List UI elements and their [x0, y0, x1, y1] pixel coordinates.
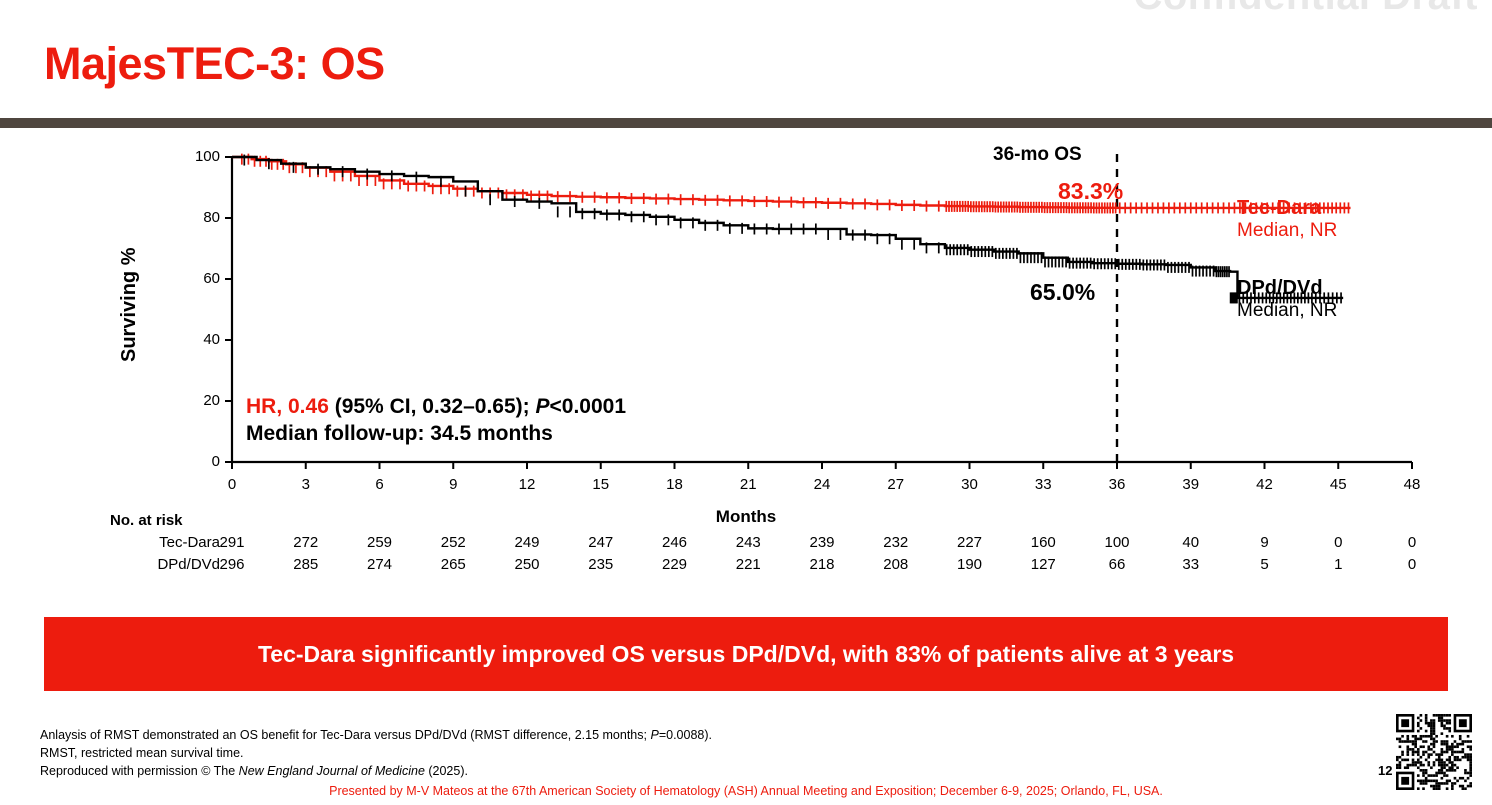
hazard-ratio-value: HR, 0.46 [246, 395, 329, 418]
risk-value: 218 [797, 556, 847, 573]
risk-table-title: No. at risk [110, 512, 183, 529]
risk-value: 66 [1092, 556, 1142, 573]
legend-dpd-dvd: DPd/DVd Median, NR [1237, 278, 1337, 321]
hazard-ratio-line: HR, 0.46 (95% CI, 0.32–0.65); P<0.0001 [246, 394, 626, 421]
risk-value: 227 [945, 534, 995, 551]
conclusion-banner: Tec-Dara significantly improved OS versu… [44, 617, 1448, 691]
risk-value: 9 [1240, 534, 1290, 551]
risk-value: 190 [945, 556, 995, 573]
footnotes: Anlaysis of RMST demonstrated an OS bene… [40, 727, 712, 780]
risk-value: 250 [502, 556, 552, 573]
risk-value: 246 [650, 534, 700, 551]
presentation-credit: Presented by M-V Mateos at the 67th Amer… [0, 784, 1492, 798]
dpd-dvd-36mo-value: 65.0% [1030, 279, 1095, 306]
risk-value: 221 [723, 556, 773, 573]
risk-value: 100 [1092, 534, 1142, 551]
risk-value: 239 [797, 534, 847, 551]
footnote-abbreviations: RMST, restricted mean survival time. [40, 745, 712, 763]
risk-value: 208 [871, 556, 921, 573]
footnote-rmst: Anlaysis of RMST demonstrated an OS bene… [40, 727, 712, 745]
footnote-p-symbol: P [650, 728, 658, 742]
risk-value: 243 [723, 534, 773, 551]
statistics-annotation: HR, 0.46 (95% CI, 0.32–0.65); P<0.0001 M… [246, 394, 626, 448]
table-row: Tec-Dara 2912722592522492472462432392322… [0, 534, 1492, 554]
risk-value: 5 [1240, 556, 1290, 573]
risk-value: 0 [1387, 534, 1437, 551]
risk-value: 0 [1313, 534, 1363, 551]
risk-value: 40 [1166, 534, 1216, 551]
legend-tec-dara-name: Tec-Dara [1237, 198, 1337, 220]
legend-dpd-dvd-median: Median, NR [1237, 300, 1337, 321]
footnote-rmst-a: Anlaysis of RMST demonstrated an OS bene… [40, 728, 650, 742]
conclusion-text: Tec-Dara significantly improved OS versu… [258, 641, 1234, 668]
risk-value: 252 [428, 534, 478, 551]
footnote-rmst-b: =0.0088). [659, 728, 712, 742]
risk-value: 291 [207, 534, 257, 551]
risk-value: 285 [281, 556, 331, 573]
qr-code[interactable] [1396, 714, 1472, 790]
page-number: 12 [1378, 763, 1392, 778]
risk-row-label: Tec-Dara [90, 534, 220, 551]
tec-dara-36mo-value: 83.3% [1058, 178, 1123, 205]
table-row: DPd/DVd 29628527426525023522922121820819… [0, 556, 1492, 576]
risk-value: 160 [1018, 534, 1068, 551]
footnote-permission: Reproduced with permission © The New Eng… [40, 763, 712, 781]
confidence-interval: (95% CI, 0.32–0.65); [329, 395, 536, 418]
risk-value: 1 [1313, 556, 1363, 573]
title-divider [0, 118, 1492, 128]
footnote-permission-a: Reproduced with permission © The [40, 764, 239, 778]
risk-value: 33 [1166, 556, 1216, 573]
risk-value: 249 [502, 534, 552, 551]
footnote-permission-b: (2025). [425, 764, 468, 778]
legend-tec-dara-median: Median, NR [1237, 220, 1337, 241]
risk-value: 235 [576, 556, 626, 573]
risk-value: 296 [207, 556, 257, 573]
risk-value: 232 [871, 534, 921, 551]
risk-row-label: DPd/DVd [90, 556, 220, 573]
survival-chart: Surviving % Months 020406080100 03691215… [0, 130, 1492, 600]
risk-value: 247 [576, 534, 626, 551]
p-value: <0.0001 [550, 395, 627, 418]
risk-value: 229 [650, 556, 700, 573]
risk-value: 259 [355, 534, 405, 551]
median-followup: Median follow-up: 34.5 months [246, 421, 626, 448]
risk-value: 272 [281, 534, 331, 551]
legend-dpd-dvd-name: DPd/DVd [1237, 278, 1337, 300]
risk-value: 265 [428, 556, 478, 573]
journal-name: New England Journal of Medicine [239, 764, 425, 778]
timepoint-annotation: 36-mo OS [993, 144, 1082, 166]
legend-tec-dara: Tec-Dara Median, NR [1237, 198, 1337, 241]
confidential-watermark: Confidential Draft [1133, 0, 1478, 19]
risk-value: 127 [1018, 556, 1068, 573]
p-symbol: P [535, 395, 549, 418]
slide: Confidential Draft MajesTEC-3: OS Surviv… [0, 0, 1492, 805]
page-title: MajesTEC-3: OS [44, 38, 385, 90]
km-curve-dpd-dvd [232, 157, 1343, 298]
risk-value: 0 [1387, 556, 1437, 573]
risk-value: 274 [355, 556, 405, 573]
